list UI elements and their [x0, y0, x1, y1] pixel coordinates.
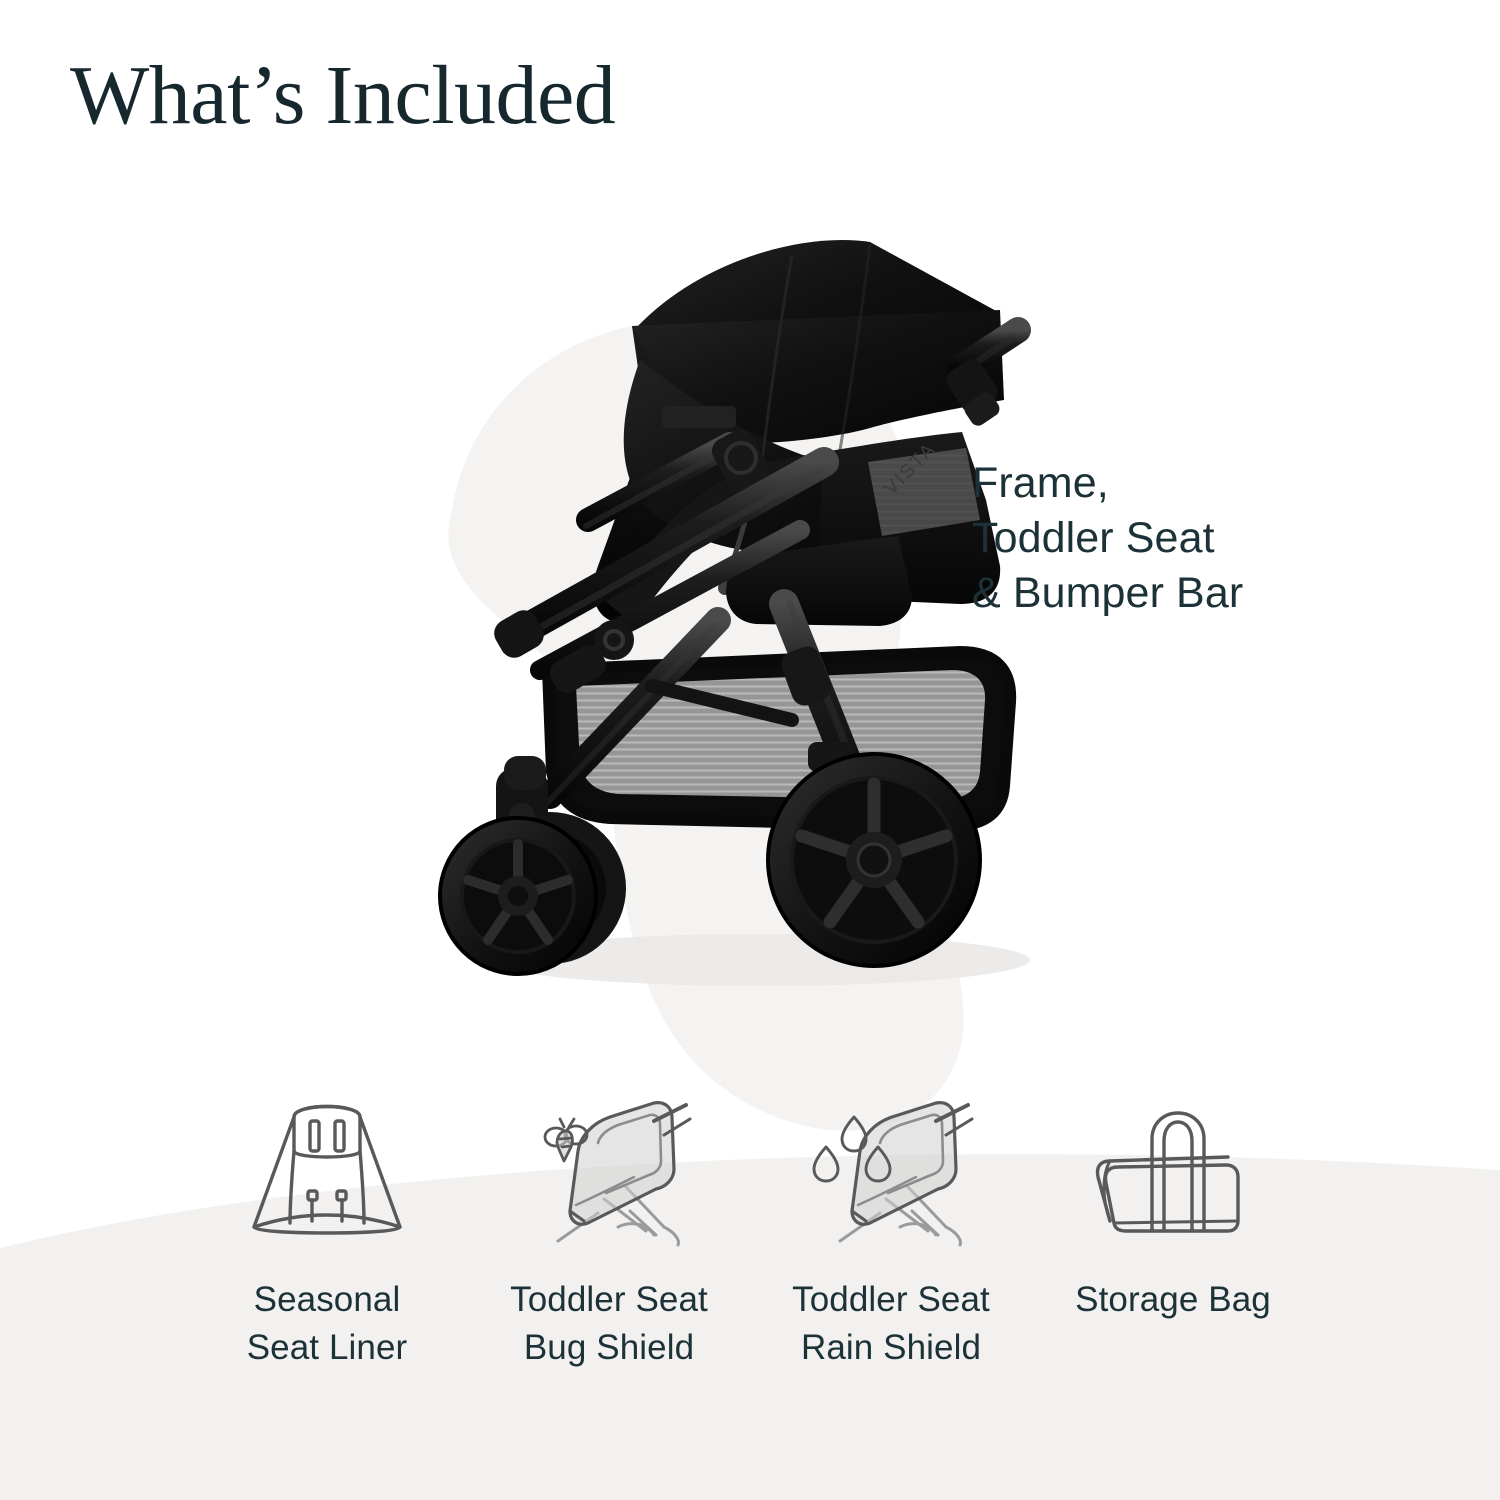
brand-tag — [662, 406, 736, 428]
included-item-label: Toddler Seat Bug Shield — [510, 1276, 708, 1373]
storage-bag-icon — [1078, 1095, 1268, 1250]
included-item-label: Seasonal Seat Liner — [247, 1276, 408, 1373]
included-item-storage-bag: Storage Bag — [1032, 1095, 1314, 1324]
page-title: What’s Included — [70, 52, 615, 140]
included-item-label: Toddler Seat Rain Shield — [792, 1276, 990, 1373]
seat-liner-icon — [232, 1095, 422, 1250]
included-item-label: Storage Bag — [1075, 1276, 1271, 1324]
included-item-seat-liner: Seasonal Seat Liner — [186, 1095, 468, 1373]
rain-shield-icon — [796, 1095, 986, 1250]
included-item-bug-shield: Toddler Seat Bug Shield — [468, 1095, 750, 1373]
included-item-rain-shield: Toddler Seat Rain Shield — [750, 1095, 1032, 1373]
hero-callout-label: Frame, Toddler Seat & Bumper Bar — [972, 456, 1243, 621]
rear-wheel — [768, 754, 980, 966]
included-items-row: Seasonal Seat Liner — [0, 1095, 1500, 1405]
bug-shield-icon — [514, 1095, 704, 1250]
whats-included-infographic: What’s Included — [0, 0, 1500, 1500]
